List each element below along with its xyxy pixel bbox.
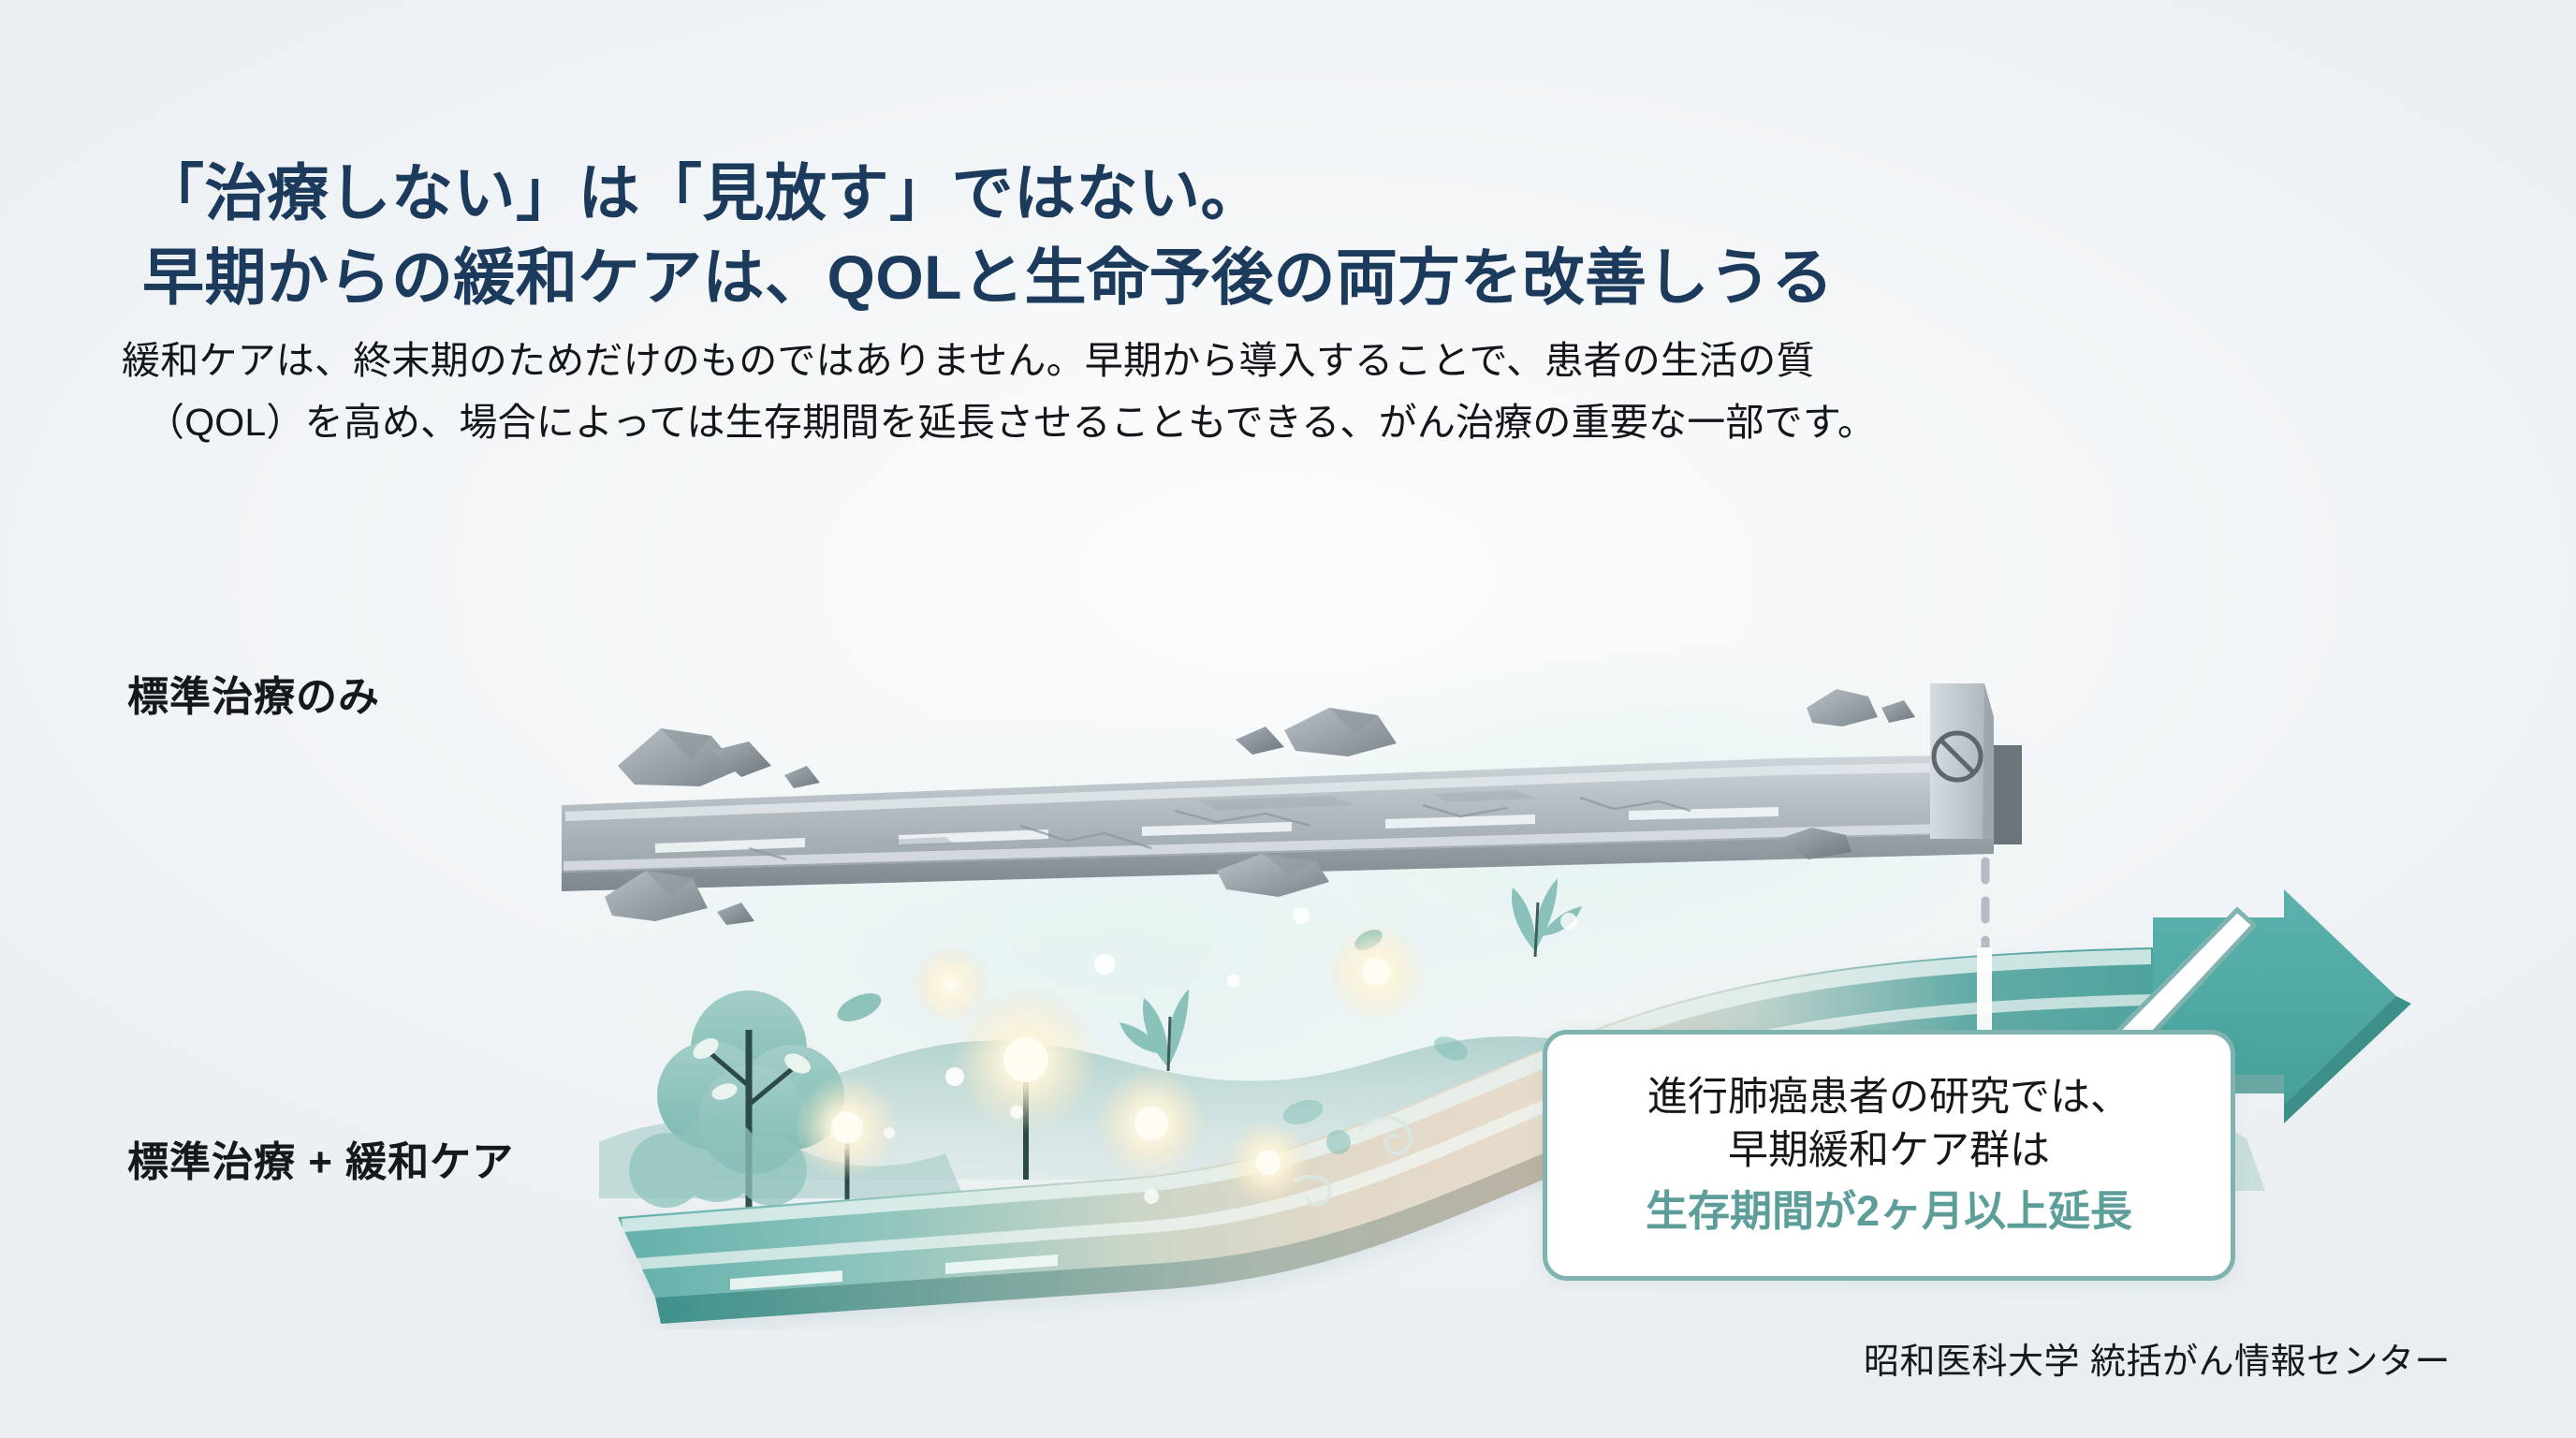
title-line-2: 早期からの緩和ケアは、QOLと生命予後の両方を改善しうる bbox=[142, 236, 2389, 320]
slide-canvas: 「治療しない」は「見放す」ではない。 早期からの緩和ケアは、QOLと生命予後の両… bbox=[0, 0, 2576, 1438]
callout-line-1: 進行肺癌患者の研究では、 bbox=[1647, 1072, 2130, 1123]
callout-highlight: 生存期間が2ヶ月以上延長 bbox=[1646, 1184, 2132, 1239]
road-barrier-icon bbox=[1930, 683, 2022, 844]
research-callout: 進行肺癌患者の研究では、 早期緩和ケア群は 生存期間が2ヶ月以上延長 bbox=[1543, 1030, 2235, 1281]
callout-line-2: 早期緩和ケア群は bbox=[1728, 1125, 2050, 1177]
lead-line-2: （QOL）を高め、場合によっては生存期間を延長させることもできる、がん治療の重要… bbox=[122, 391, 2443, 453]
lead-line-1: 緩和ケアは、終末期のためだけのものではありません。早期から導入することで、患者の… bbox=[122, 330, 2443, 391]
source-credit: 昭和医科大学 統括がん情報センター bbox=[1864, 1332, 2451, 1384]
title-line-1: 「治療しない」は「見放す」ではない。 bbox=[142, 158, 1263, 227]
lead-paragraph: 緩和ケアは、終末期のためだけのものではありません。早期から導入することで、患者の… bbox=[122, 330, 2443, 454]
callout-tail bbox=[2097, 904, 2265, 1045]
